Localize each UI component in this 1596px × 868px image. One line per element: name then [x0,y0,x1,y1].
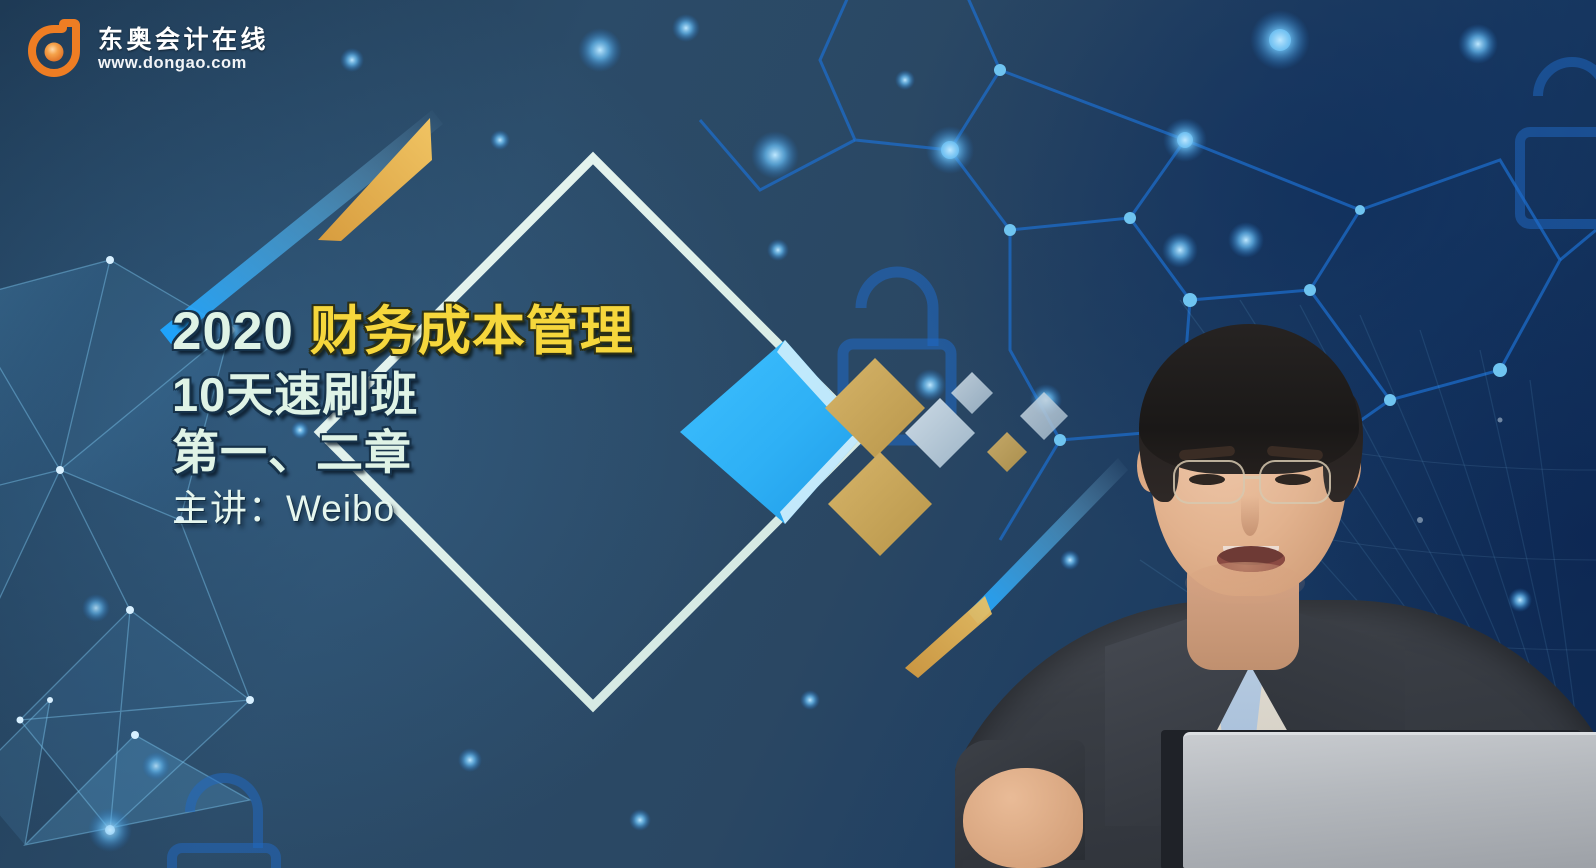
glasses-lens-right-icon [1259,460,1331,504]
presenter-chin [1185,562,1305,604]
course-title-block: 2020财务成本管理 10天速刷班 第一、二章 主讲：Weibo [172,305,792,527]
glasses-bridge-icon [1243,476,1261,479]
course-subject: 财务成本管理 [310,302,634,361]
course-chapters: 第一、二章 [172,429,792,476]
brand-url: www.dongao.com [98,55,269,72]
presenter-hair [1139,324,1359,474]
dongao-d-logo-icon [24,18,86,80]
brand-name-cn: 东奥会计在线 [98,28,269,53]
video-frame: 东奥会计在线 www.dongao.com 2020财务成本管理 10天速刷班 … [0,0,1596,868]
course-class-name: 10天速刷班 [172,371,792,418]
course-year: 2020 [172,302,294,361]
presenter-hand [963,768,1083,868]
presenter-nose [1241,496,1259,536]
presenter-video-figure [955,300,1596,868]
course-presenter: 主讲：Weibo [172,490,792,527]
glasses-lens-left-icon [1173,460,1245,504]
brand-logo[interactable]: 东奥会计在线 www.dongao.com [24,18,269,80]
laptop-lid [1183,732,1596,868]
